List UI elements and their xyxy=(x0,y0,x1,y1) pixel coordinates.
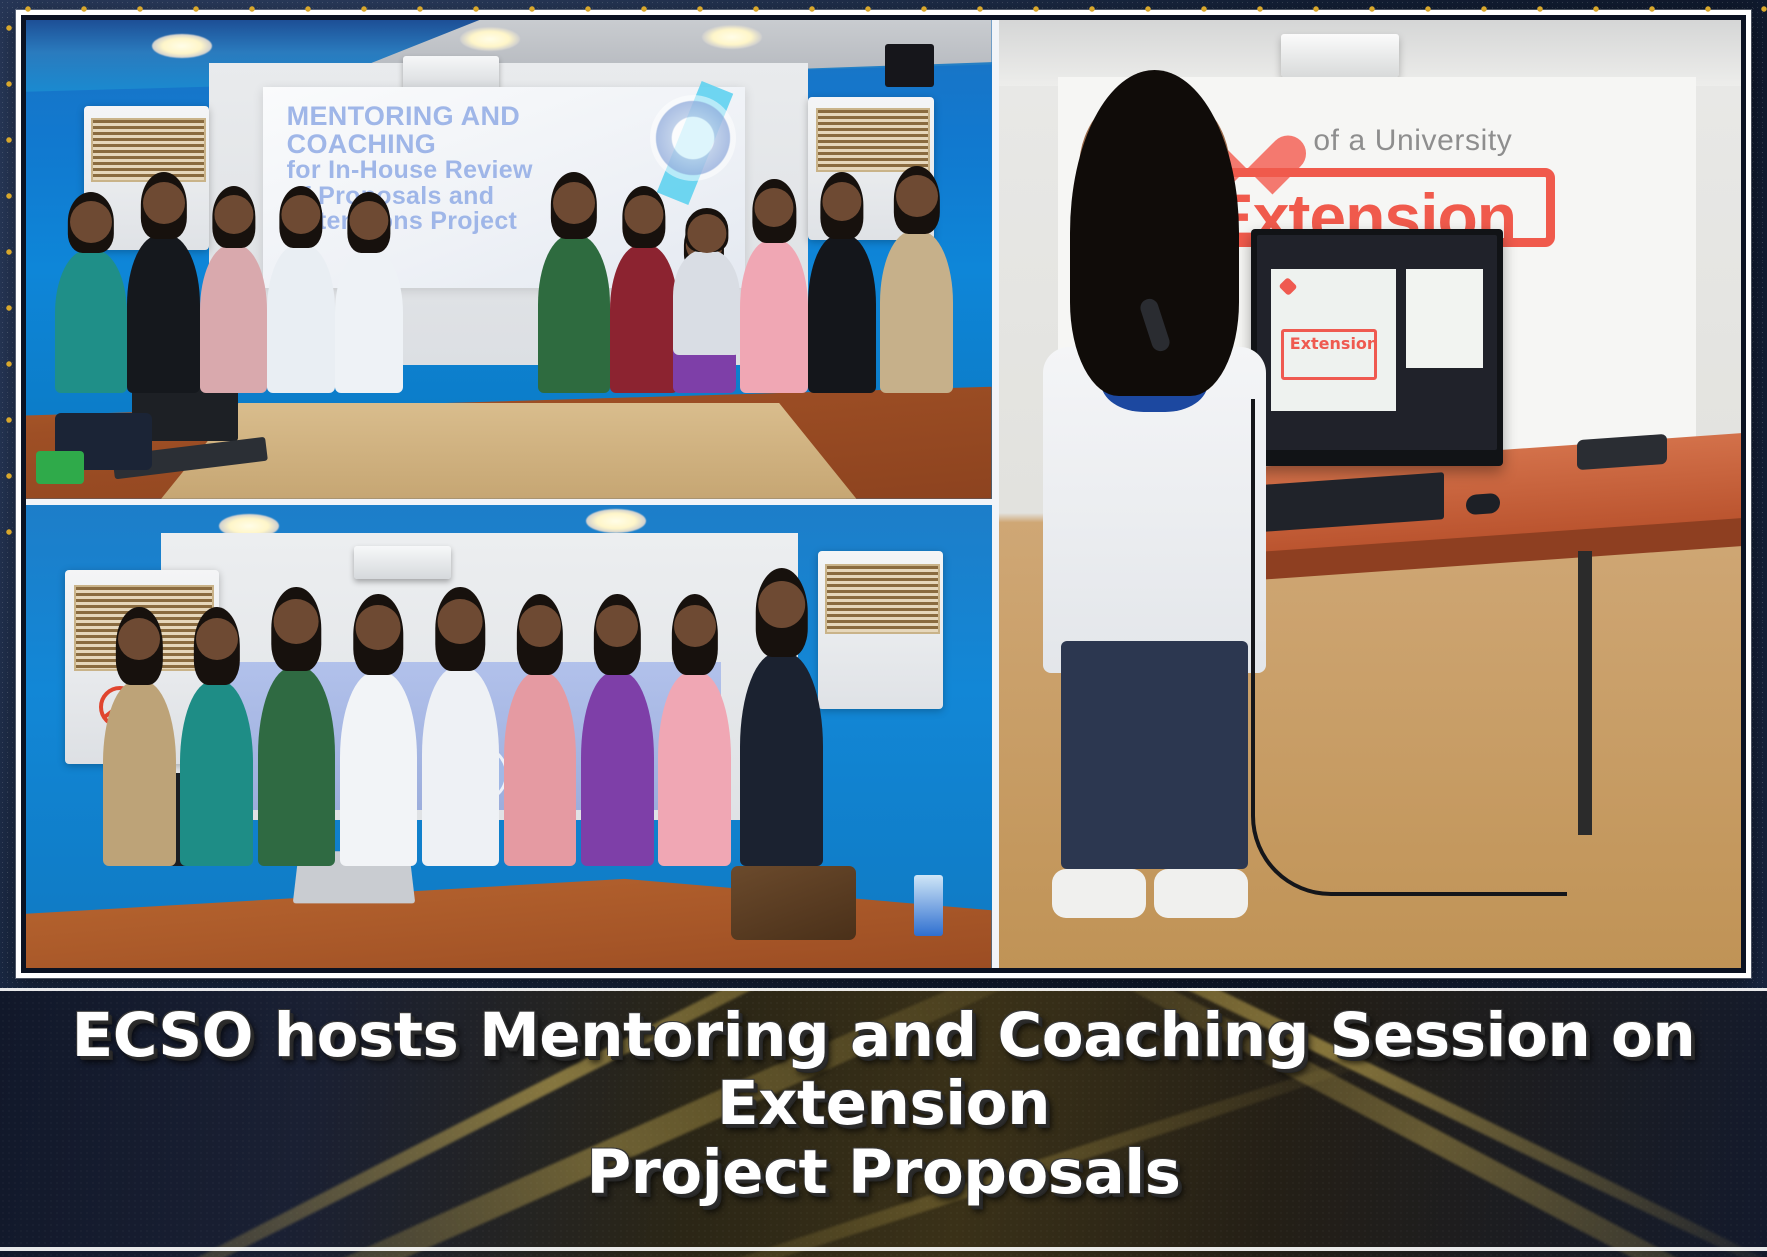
photo-collage: MENTORING AND COACHING for In-House Revi… xyxy=(26,20,1741,968)
heart-icon xyxy=(1279,277,1298,296)
caption-banner: ECSO hosts Mentoring and Coaching Sessio… xyxy=(0,988,1767,1257)
person-trousers xyxy=(1061,641,1248,869)
poster-collage: MENTORING AND COACHING for In-House Revi… xyxy=(0,0,1767,1257)
photo-bottom-left-group xyxy=(26,505,992,968)
slide-tagline: of a University xyxy=(1313,124,1512,158)
gold-dot-border-left xyxy=(4,0,14,560)
person-with-certificate xyxy=(335,250,403,394)
left-photo-column: MENTORING AND COACHING for In-House Revi… xyxy=(26,20,992,968)
person xyxy=(103,681,175,866)
person xyxy=(658,672,730,867)
extension-stamp-label: Extension xyxy=(1290,334,1379,353)
right-photo-column: of a University Extension xyxy=(992,20,1741,968)
person xyxy=(740,240,808,393)
person-nursing-jersey xyxy=(258,667,335,866)
person xyxy=(740,653,822,866)
desk-leg xyxy=(1578,551,1592,835)
gold-dot-border-top xyxy=(0,4,1767,14)
speaker-person xyxy=(1043,86,1266,901)
person xyxy=(610,245,678,393)
microphone-cable xyxy=(1251,399,1567,896)
caption-text: ECSO hosts Mentoring and Coaching Sessio… xyxy=(0,1002,1767,1207)
person xyxy=(422,667,499,866)
shoe xyxy=(1052,869,1146,918)
projector-icon xyxy=(1281,34,1400,77)
person xyxy=(200,245,268,393)
photo-top-left-group: MENTORING AND COACHING for In-House Revi… xyxy=(26,20,992,505)
caption-line-2: Project Proposals xyxy=(40,1139,1727,1207)
caption-line-1: ECSO hosts Mentoring and Coaching Sessio… xyxy=(72,1000,1696,1139)
people-group xyxy=(26,20,992,499)
caption-divider-bottom xyxy=(0,1247,1767,1251)
person xyxy=(267,245,335,393)
photo-frame: MENTORING AND COACHING for In-House Revi… xyxy=(16,10,1751,978)
presentation-slide-main: Extension xyxy=(1271,269,1396,411)
person xyxy=(808,235,876,393)
person xyxy=(504,672,576,867)
presentation-slide-preview xyxy=(1406,269,1483,368)
person xyxy=(880,231,952,394)
extension-stamp: Extension xyxy=(1281,329,1377,380)
person xyxy=(581,672,653,867)
conference-microphone xyxy=(1577,434,1667,470)
person-nursing-jersey xyxy=(538,235,610,393)
person xyxy=(673,250,741,355)
person xyxy=(340,672,417,867)
caption-divider-top xyxy=(0,988,1767,991)
person xyxy=(55,250,127,394)
person xyxy=(180,681,252,866)
people-group xyxy=(26,505,992,968)
photo-right-speaker: of a University Extension xyxy=(999,20,1741,968)
shoe xyxy=(1154,869,1248,918)
person xyxy=(127,235,199,393)
